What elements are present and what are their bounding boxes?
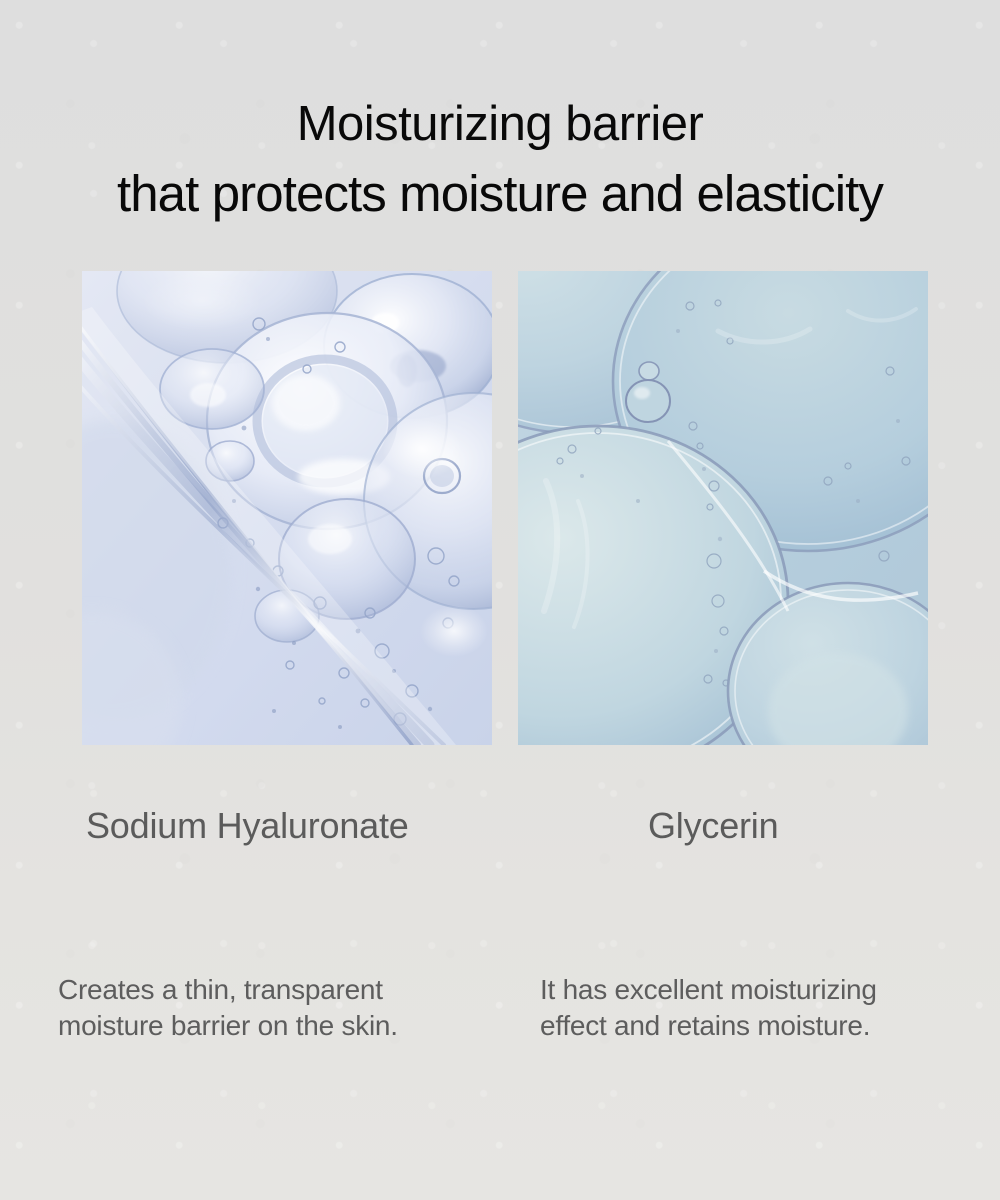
title-line-2: that protects moisture and elasticity — [0, 159, 1000, 229]
title-line-1: Moisturizing barrier — [0, 89, 1000, 159]
page-title: Moisturizing barrier that protects moist… — [0, 89, 1000, 229]
ingredient-image-sodium-hyaluronate — [82, 271, 492, 745]
ingredient-name-glycerin: Glycerin — [648, 806, 778, 846]
oil-droplet-illustration — [518, 271, 928, 745]
product-detail-page: Moisturizing barrier that protects moist… — [0, 0, 1000, 1200]
bubble-gel-illustration — [82, 271, 492, 745]
ingredient-description-glycerin: It has excellent moisturizing effect and… — [540, 972, 1000, 1044]
ingredient-description-sodium-hyaluronate: Creates a thin, transparent moisture bar… — [58, 972, 528, 1044]
ingredient-name-sodium-hyaluronate: Sodium Hyaluronate — [86, 806, 409, 846]
ingredient-image-glycerin — [518, 271, 928, 745]
